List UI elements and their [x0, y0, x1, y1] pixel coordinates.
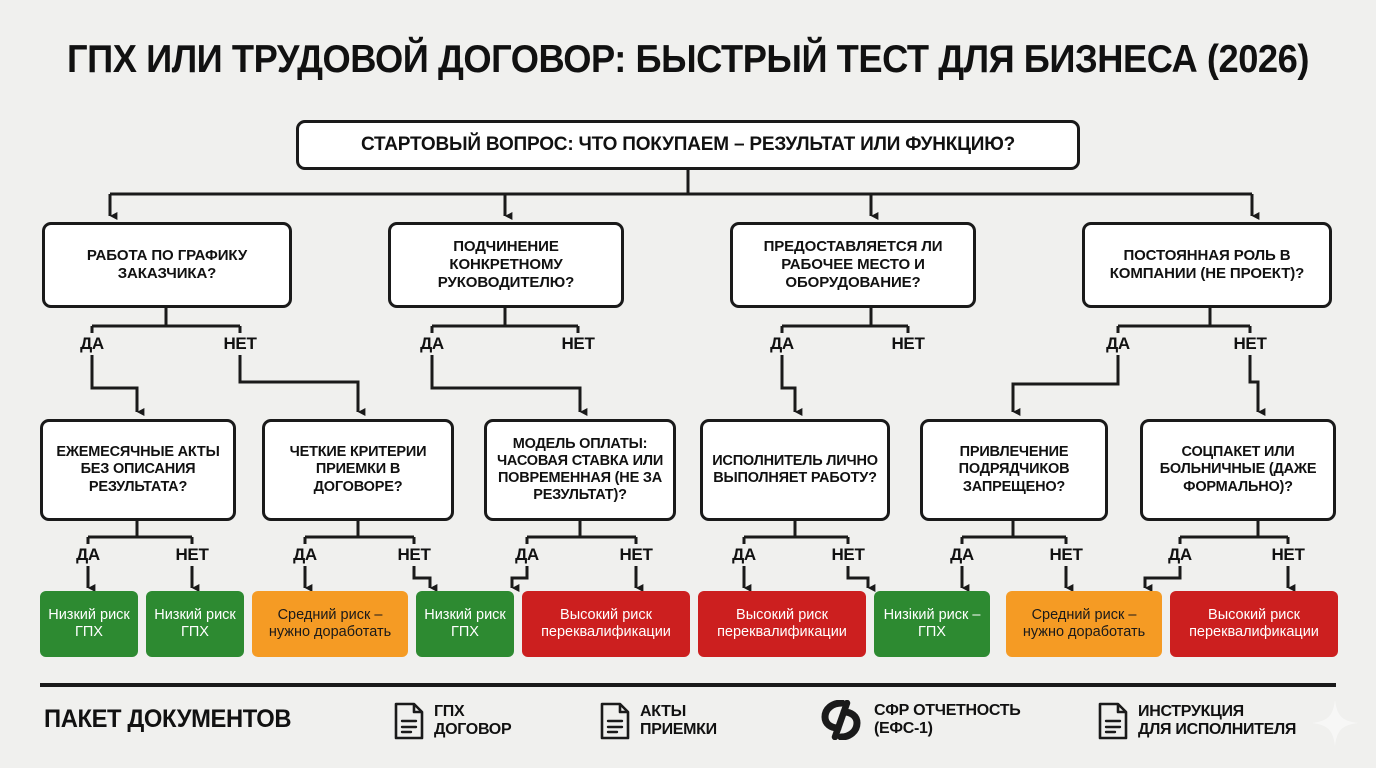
outcome-label: Высокий риск переквалификации	[525, 607, 687, 642]
outcome-box-low-risk-4[interactable]: Низікий риск – ГПХ	[874, 591, 990, 657]
document-item-contract[interactable]: ГПХ ДОГОВОР	[394, 702, 511, 740]
document-label-line2: (ЕФС-1)	[874, 720, 1020, 738]
branch-label-yes-2: ДА	[420, 334, 444, 354]
document-icon	[600, 702, 630, 740]
branch-label-no-5: НЕТ	[175, 545, 208, 565]
outcome-label: Высокий риск переквалификации	[1173, 607, 1335, 642]
branch-label-no-3: НЕТ	[891, 334, 924, 354]
sparkle-icon	[1312, 700, 1358, 746]
outcome-label: Низкий риск ГПХ	[419, 607, 511, 642]
question-box-acceptance-criteria[interactable]: ЧЕТКИЕ КРИТЕРИИ ПРИЕМКИ В ДОГОВОРЕ?	[262, 419, 454, 521]
page-title: ГПХ ИЛИ ТРУДОВОЙ ДОГОВОР: БЫСТРЫЙ ТЕСТ Д…	[48, 38, 1328, 82]
question-label: ПОДЧИНЕНИЕ КОНКРЕТНОМУ РУКОВОДИТЕЛЮ?	[397, 238, 615, 291]
question-box-schedule[interactable]: РАБОТА ПО ГРАФИКУ ЗАКАЗЧИКА?	[42, 222, 292, 308]
branch-label-yes-9: ДА	[950, 545, 974, 565]
branch-label-yes-1: ДА	[80, 334, 104, 354]
question-label: ЧЕТКИЕ КРИТЕРИИ ПРИЕМКИ В ДОГОВОРЕ?	[271, 444, 445, 495]
document-item-acts[interactable]: АКТЫ ПРИЕМКИ	[600, 702, 717, 740]
branch-label-no-1: НЕТ	[223, 334, 256, 354]
question-label: ПОСТОЯННАЯ РОЛЬ В КОМПАНИИ (НЕ ПРОЕКТ)?	[1091, 247, 1323, 282]
branch-label-yes-7: ДА	[515, 545, 539, 565]
outcome-label: Низікий риск – ГПХ	[877, 607, 987, 642]
outcome-box-medium-risk-1[interactable]: Средний риск – нужно доработать	[252, 591, 408, 657]
document-item-sfr-report[interactable]: СФР ОТЧЕТНОСТЬ (ЕФС-1)	[820, 700, 1020, 740]
outcome-label: Низкий риск ГПХ	[43, 607, 135, 642]
question-box-workplace[interactable]: ПРЕДОСТАВЛЯЕТСЯ ЛИ РАБОЧЕЕ МЕСТО И ОБОРУ…	[730, 222, 976, 308]
outcome-box-low-risk-1[interactable]: Низкий риск ГПХ	[40, 591, 138, 657]
document-label-line1: ГПХ	[434, 703, 511, 721]
branch-label-yes-4: ДА	[1106, 334, 1130, 354]
question-box-social-package[interactable]: СОЦПАКЕТ ИЛИ БОЛЬНИЧНЫЕ (ДАЖЕ ФОРМАЛЬНО)…	[1140, 419, 1336, 521]
question-box-subordination[interactable]: ПОДЧИНЕНИЕ КОНКРЕТНОМУ РУКОВОДИТЕЛЮ?	[388, 222, 624, 308]
question-box-permanent-role[interactable]: ПОСТОЯННАЯ РОЛЬ В КОМПАНИИ (НЕ ПРОЕКТ)?	[1082, 222, 1332, 308]
sfr-logo-icon	[820, 700, 864, 740]
question-label: ПРИВЛЕЧЕНИЕ ПОДРЯДЧИКОВ ЗАПРЕЩЕНО?	[929, 444, 1099, 495]
outcome-box-high-risk-1[interactable]: Высокий риск переквалификации	[522, 591, 690, 657]
start-question-box[interactable]: СТАРТОВЫЙ ВОПРОС: ЧТО ПОКУПАЕМ – РЕЗУЛЬТ…	[296, 120, 1080, 170]
document-item-instruction[interactable]: ИНСТРУКЦИЯ ДЛЯ ИСПОЛНИТЕЛЯ	[1098, 702, 1296, 740]
question-label: СОЦПАКЕТ ИЛИ БОЛЬНИЧНЫЕ (ДАЖЕ ФОРМАЛЬНО)…	[1149, 444, 1327, 495]
document-label-line1: ИНСТРУКЦИЯ	[1138, 703, 1296, 721]
branch-label-no-6: НЕТ	[397, 545, 430, 565]
branch-label-yes-8: ДА	[732, 545, 756, 565]
outcome-box-medium-risk-2[interactable]: Средний риск – нужно доработать	[1006, 591, 1162, 657]
footer-title: ПАКЕТ ДОКУМЕНТОВ	[44, 705, 291, 734]
question-label: ПРЕДОСТАВЛЯЕТСЯ ЛИ РАБОЧЕЕ МЕСТО И ОБОРУ…	[739, 238, 967, 291]
document-label-line2: ДЛЯ ИСПОЛНИТЕЛЯ	[1138, 721, 1296, 739]
outcome-label: Низкий риск ГПХ	[149, 607, 241, 642]
outcome-box-high-risk-2[interactable]: Высокий риск переквалификации	[698, 591, 866, 657]
document-label: ГПХ ДОГОВОР	[434, 703, 511, 740]
branch-label-no-7: НЕТ	[619, 545, 652, 565]
outcome-label: Средний риск – нужно доработать	[255, 607, 405, 642]
question-box-monthly-acts[interactable]: ЕЖЕМЕСЯЧНЫЕ АКТЫ БЕЗ ОПИСАНИЯ РЕЗУЛЬТАТА…	[40, 419, 236, 521]
branch-label-yes-3: ДА	[770, 334, 794, 354]
question-label: РАБОТА ПО ГРАФИКУ ЗАКАЗЧИКА?	[51, 247, 283, 282]
document-label-line1: АКТЫ	[640, 703, 717, 721]
start-question-label: СТАРТОВЫЙ ВОПРОС: ЧТО ПОКУПАЕМ – РЕЗУЛЬТ…	[361, 134, 1015, 156]
document-label-line2: ДОГОВОР	[434, 721, 511, 739]
outcome-label: Средний риск – нужно доработать	[1009, 607, 1159, 642]
document-label-line1: СФР ОТЧЕТНОСТЬ	[874, 702, 1020, 720]
outcome-label: Высокий риск переквалификации	[701, 607, 863, 642]
footer-divider	[40, 683, 1336, 687]
document-label: ИНСТРУКЦИЯ ДЛЯ ИСПОЛНИТЕЛЯ	[1138, 703, 1296, 740]
branch-label-no-2: НЕТ	[561, 334, 594, 354]
outcome-box-high-risk-3[interactable]: Высокий риск переквалификации	[1170, 591, 1338, 657]
branch-label-no-8: НЕТ	[831, 545, 864, 565]
question-box-personal-performance[interactable]: ИСПОЛНИТЕЛЬ ЛИЧНО ВЫПОЛНЯЕТ РАБОТУ?	[700, 419, 890, 521]
document-label: СФР ОТЧЕТНОСТЬ (ЕФС-1)	[874, 702, 1020, 739]
document-label-line2: ПРИЕМКИ	[640, 721, 717, 739]
branch-label-no-10: НЕТ	[1271, 545, 1304, 565]
branch-label-yes-6: ДА	[293, 545, 317, 565]
branch-label-no-9: НЕТ	[1049, 545, 1082, 565]
question-label: ЕЖЕМЕСЯЧНЫЕ АКТЫ БЕЗ ОПИСАНИЯ РЕЗУЛЬТАТА…	[49, 444, 227, 495]
question-box-payment-model[interactable]: МОДЕЛЬ ОПЛАТЫ: ЧАСОВАЯ СТАВКА ИЛИ ПОВРЕМ…	[484, 419, 676, 521]
question-label: ИСПОЛНИТЕЛЬ ЛИЧНО ВЫПОЛНЯЕТ РАБОТУ?	[709, 453, 881, 487]
document-icon	[1098, 702, 1128, 740]
infographic-root: ГПХ ИЛИ ТРУДОВОЙ ДОГОВОР: БЫСТРЫЙ ТЕСТ Д…	[0, 0, 1376, 768]
question-box-subcontractors[interactable]: ПРИВЛЕЧЕНИЕ ПОДРЯДЧИКОВ ЗАПРЕЩЕНО?	[920, 419, 1108, 521]
outcome-box-low-risk-2[interactable]: Низкий риск ГПХ	[146, 591, 244, 657]
branch-label-no-4: НЕТ	[1233, 334, 1266, 354]
document-icon	[394, 702, 424, 740]
document-label: АКТЫ ПРИЕМКИ	[640, 703, 717, 740]
question-label: МОДЕЛЬ ОПЛАТЫ: ЧАСОВАЯ СТАВКА ИЛИ ПОВРЕМ…	[493, 436, 667, 504]
outcome-box-low-risk-3[interactable]: Низкий риск ГПХ	[416, 591, 514, 657]
branch-label-yes-5: ДА	[76, 545, 100, 565]
branch-label-yes-10: ДА	[1168, 545, 1192, 565]
